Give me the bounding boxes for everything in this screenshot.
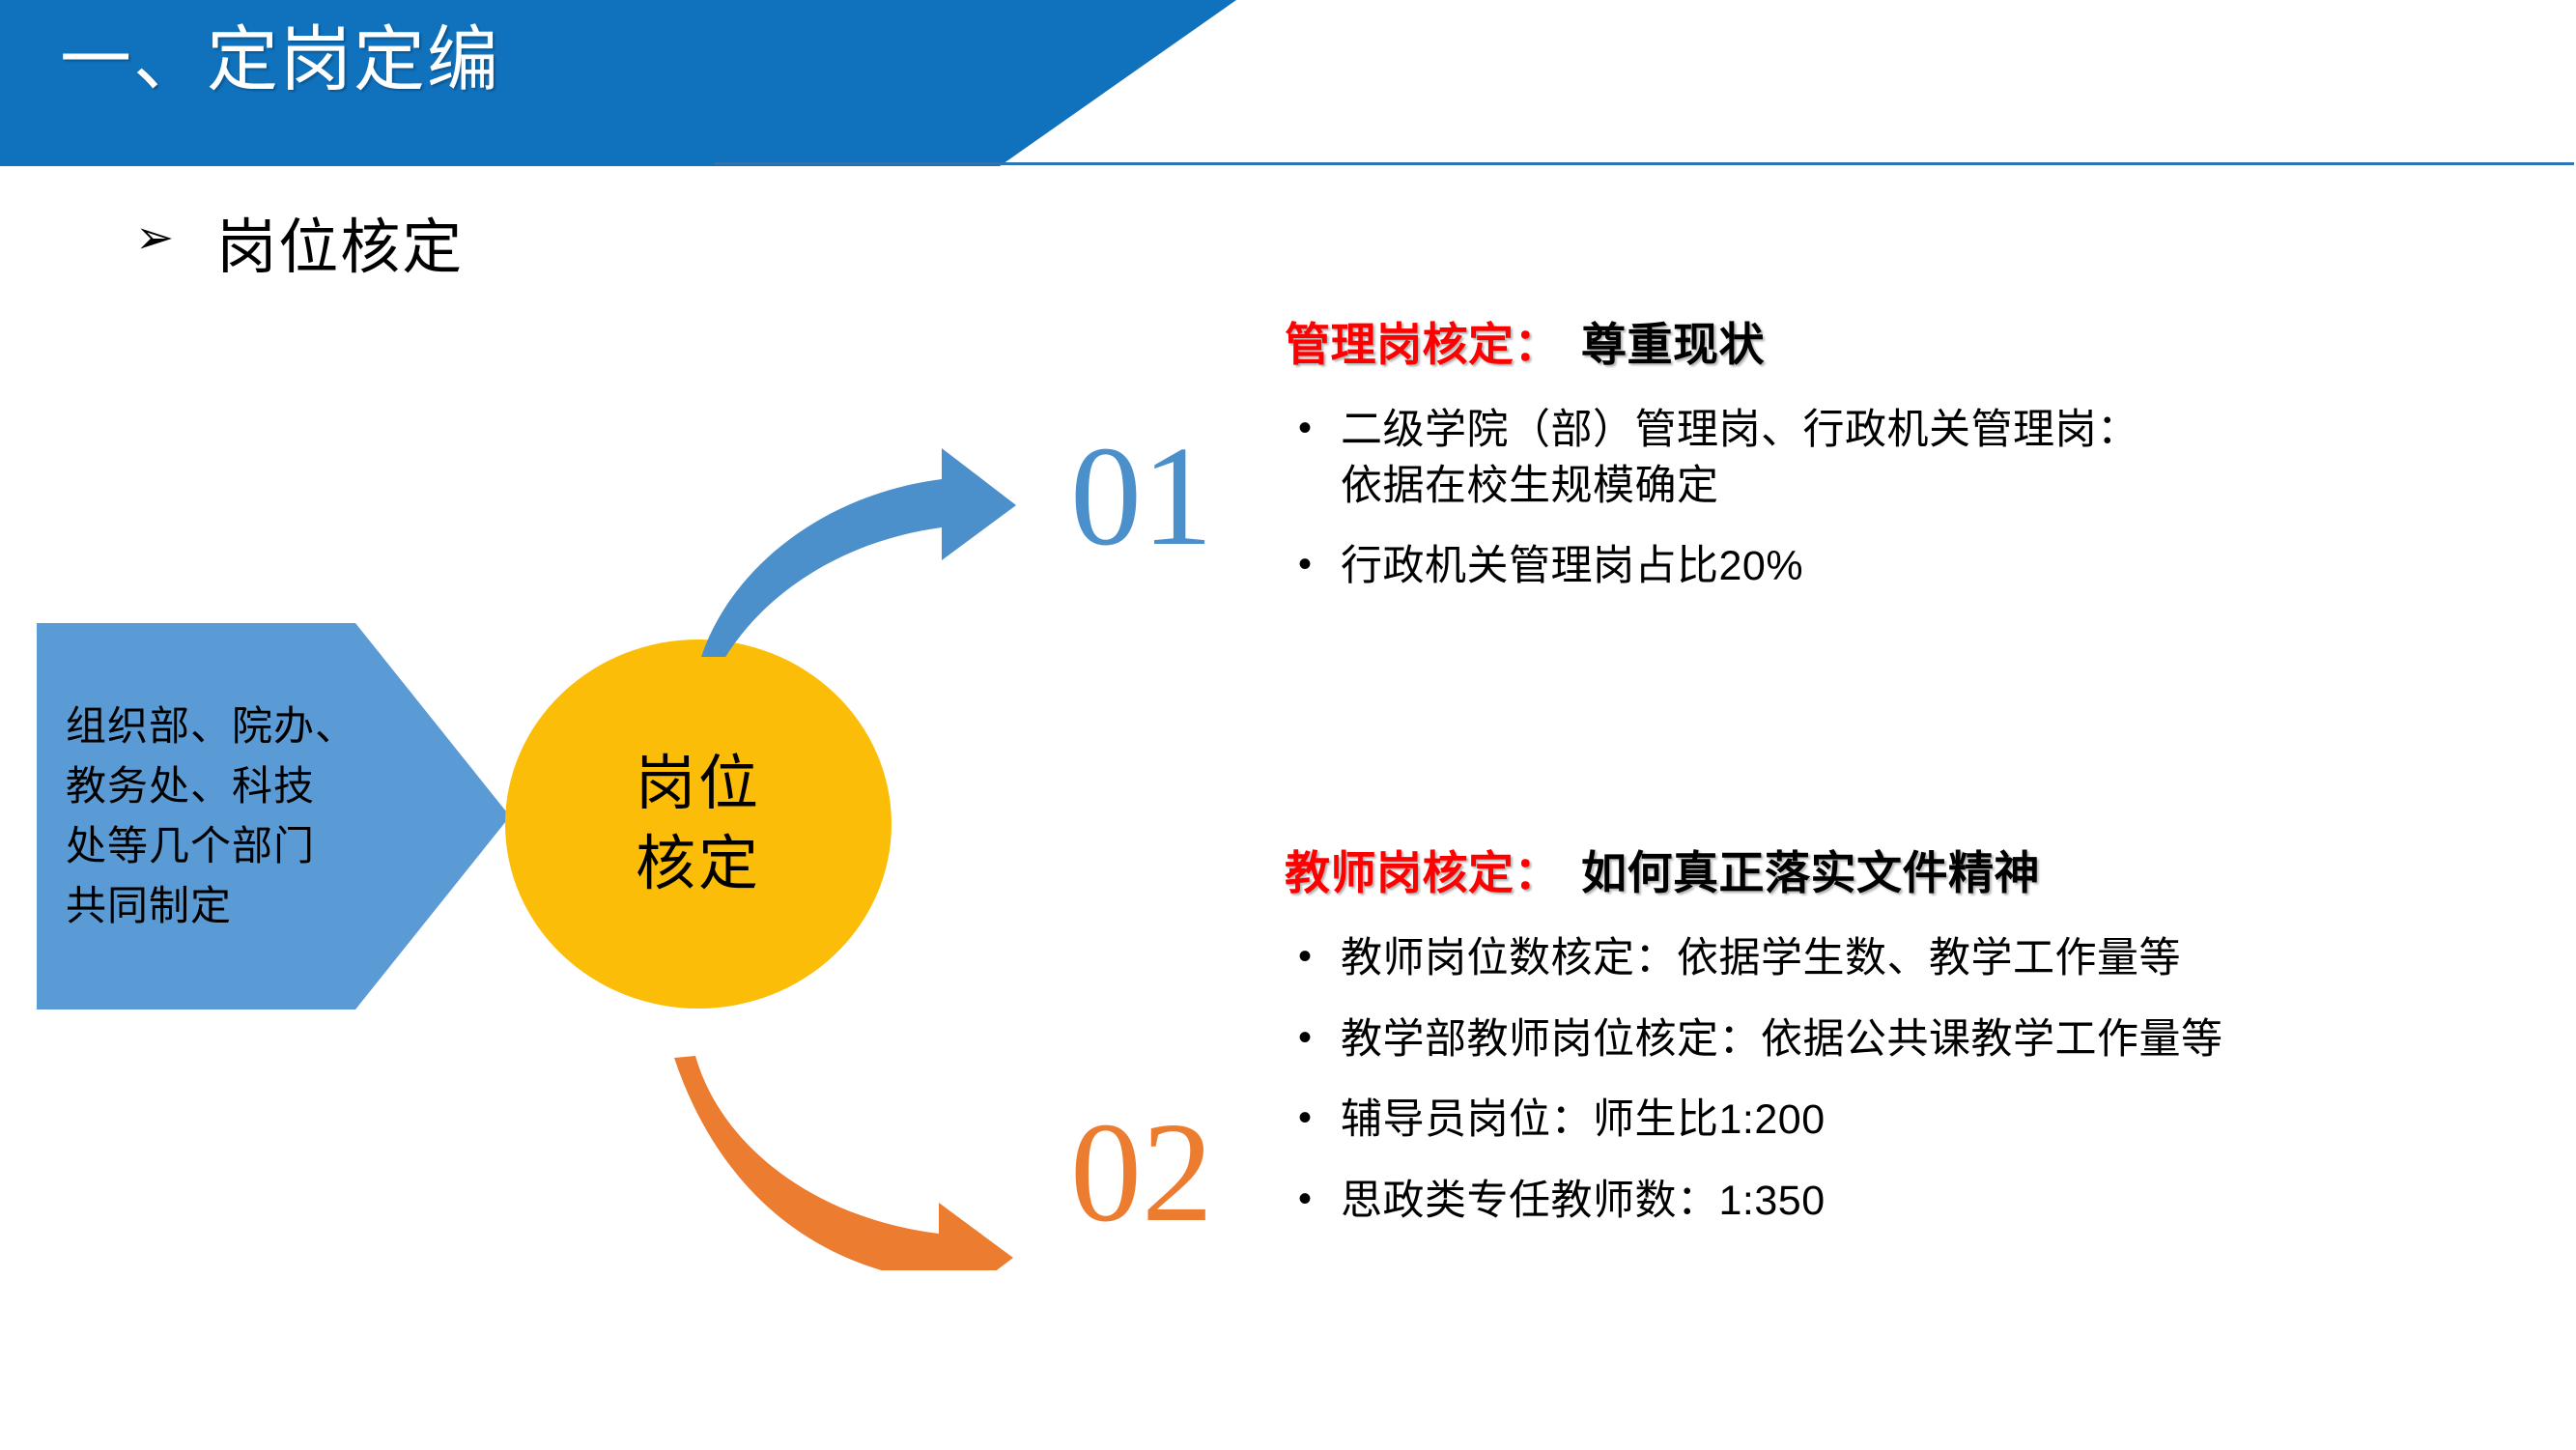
curved-arrow-blue-icon [637, 406, 1120, 657]
section-2-heading-red: 教师岗核定： [1285, 847, 1560, 898]
curved-arrow-orange-icon [637, 1019, 1120, 1270]
list-item-text: 行政机关管理岗占比20% [1341, 539, 1803, 595]
page-title: 一、定岗定编 [60, 14, 500, 106]
list-item: • 辅导员岗位：师生比1:200 [1285, 1093, 2560, 1149]
bullet-dot-icon: • [1285, 1174, 1341, 1225]
list-item-text: 思政类专任教师数：1:350 [1341, 1174, 1826, 1230]
slide-canvas: 一、定岗定编 ➢ 岗位核定 组织部、院办、 教务处、科技 处等几个部门 共同制定… [0, 0, 2576, 1450]
pentagon-shape: 组织部、院办、 教务处、科技 处等几个部门 共同制定 [37, 623, 510, 1009]
list-item: • 思政类专任教师数：1:350 [1285, 1174, 2560, 1230]
bullet-dot-icon: • [1285, 931, 1341, 982]
bullet-dot-icon: • [1285, 1012, 1341, 1064]
list-item-text: 二级学院（部）管理岗、行政机关管理岗： 依据在校生规模确定 [1341, 403, 2139, 514]
section-2-heading: 教师岗核定：如何真正落实文件精神 [1285, 836, 2560, 902]
section-1-heading-red: 管理岗核定： [1285, 319, 1560, 370]
list-item: • 教师岗位数核定：依据学生数、教学工作量等 [1285, 931, 2560, 987]
section-management-posts: 管理岗核定：尊重现状 • 二级学院（部）管理岗、行政机关管理岗： 依据在校生规模… [1285, 307, 2540, 620]
bullet-dot-icon: • [1285, 1093, 1341, 1144]
header-divider-line [715, 162, 2574, 165]
section-2-heading-black: 如何真正落实文件精神 [1581, 847, 2040, 898]
list-item: • 行政机关管理岗占比20% [1285, 539, 2540, 595]
subheading-label: 岗位核定 [216, 198, 464, 285]
list-item-text: 教师岗位数核定：依据学生数、教学工作量等 [1341, 931, 2181, 987]
bullet-dot-icon: • [1285, 539, 1341, 590]
step-number-02: 02 [1070, 1101, 1213, 1244]
list-item-text: 教学部教师岗位核定：依据公共课教学工作量等 [1341, 1012, 2223, 1068]
section-2-bullets: • 教师岗位数核定：依据学生数、教学工作量等 • 教学部教师岗位核定：依据公共课… [1285, 931, 2560, 1229]
circle-label: 岗位 核定 [636, 744, 761, 904]
list-item: • 二级学院（部）管理岗、行政机关管理岗： 依据在校生规模确定 [1285, 403, 2540, 514]
section-1-bullets: • 二级学院（部）管理岗、行政机关管理岗： 依据在校生规模确定 • 行政机关管理… [1285, 403, 2540, 595]
list-item-text: 辅导员岗位：师生比1:200 [1341, 1093, 1826, 1149]
section-teacher-posts: 教师岗核定：如何真正落实文件精神 • 教师岗位数核定：依据学生数、教学工作量等 … [1285, 836, 2560, 1254]
bullet-dot-icon: • [1285, 403, 1341, 454]
step-number-01: 01 [1070, 425, 1213, 568]
subheading: ➢ 岗位核定 [135, 198, 464, 285]
section-1-heading-black: 尊重现状 [1581, 319, 1765, 370]
pentagon-label: 组织部、院办、 教务处、科技 处等几个部门 共同制定 [37, 697, 356, 937]
arrow-bullet-icon: ➢ [135, 214, 174, 261]
list-item: • 教学部教师岗位核定：依据公共课教学工作量等 [1285, 1012, 2560, 1068]
circle-shape: 岗位 核定 [505, 640, 892, 1009]
section-1-heading: 管理岗核定：尊重现状 [1285, 307, 2540, 374]
